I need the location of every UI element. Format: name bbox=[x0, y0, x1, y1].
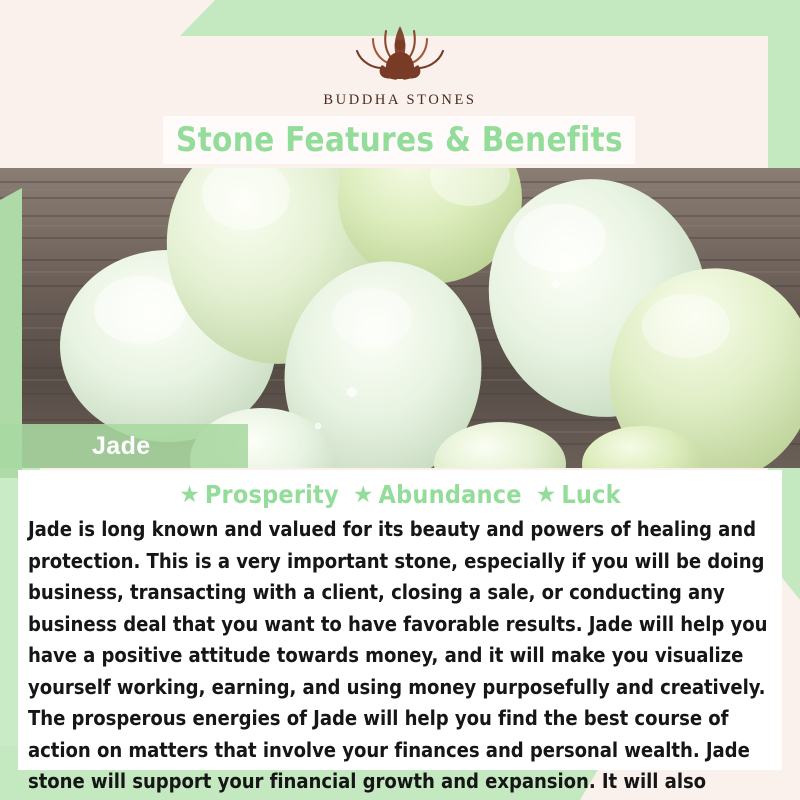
star-icon: ★ bbox=[353, 483, 374, 506]
stone-description: Jade is long known and valued for its be… bbox=[28, 514, 768, 800]
title-banner: Stone Features & Benefits bbox=[163, 116, 635, 164]
jade-stones-photo bbox=[0, 168, 800, 468]
content-panel: ★ Prosperity ★ Abundance ★ Luck Jade is … bbox=[18, 470, 782, 770]
benefits-row: ★ Prosperity ★ Abundance ★ Luck bbox=[18, 478, 782, 510]
brand-name: BUDDHA STONES bbox=[323, 92, 476, 109]
benefit-label: Prosperity bbox=[205, 480, 339, 509]
stone-name: Jade bbox=[92, 432, 151, 461]
stone-name-banner: Jade bbox=[0, 424, 248, 468]
star-icon: ★ bbox=[536, 483, 557, 506]
lotus-meditation-icon bbox=[335, 18, 465, 90]
benefit-item: ★ Abundance bbox=[353, 480, 522, 509]
benefit-label: Luck bbox=[561, 480, 620, 509]
poster-card: BUDDHA STONES Stone Features & Benefits bbox=[0, 0, 800, 800]
brand-logo: BUDDHA STONES bbox=[0, 18, 800, 118]
benefit-label: Abundance bbox=[378, 480, 521, 509]
benefit-item: ★ Prosperity bbox=[179, 480, 339, 509]
star-icon: ★ bbox=[179, 483, 200, 506]
hero-image bbox=[0, 168, 800, 468]
page-title: Stone Features & Benefits bbox=[175, 120, 622, 160]
benefit-item: ★ Luck bbox=[536, 480, 621, 509]
